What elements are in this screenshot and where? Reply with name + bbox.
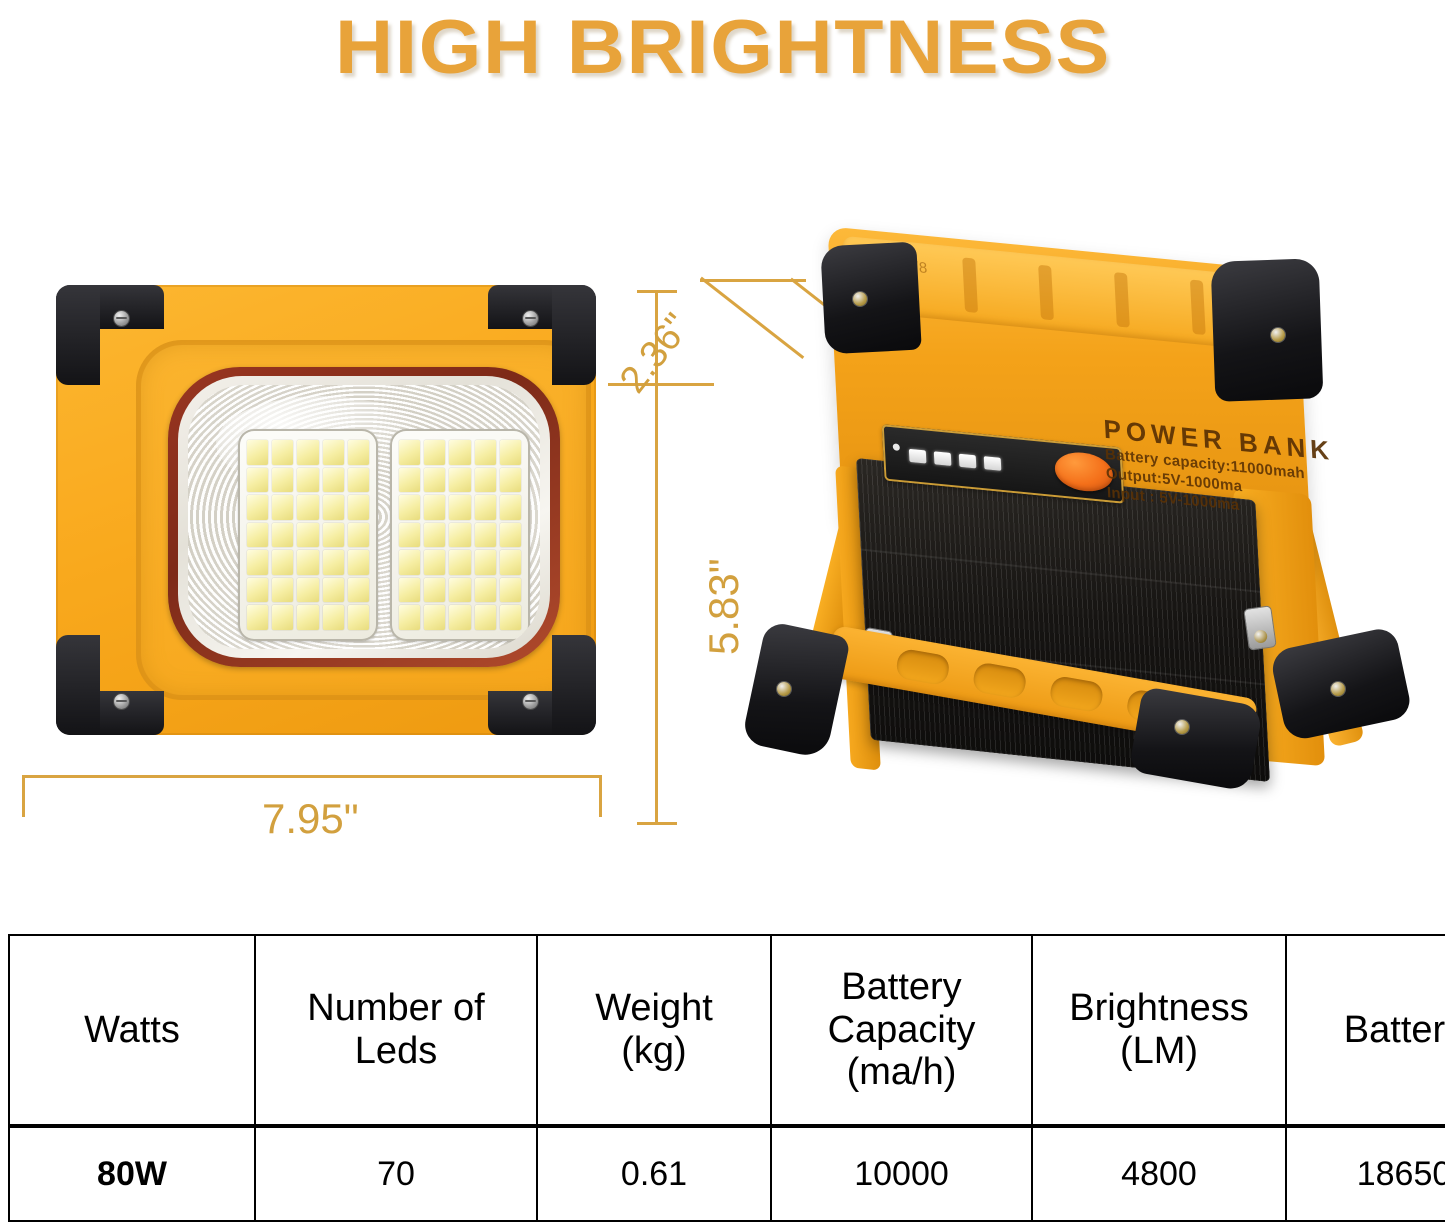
table-header-number-of-leds: Number ofLeds	[255, 935, 537, 1126]
led-chip	[424, 550, 445, 575]
screw-icon	[777, 682, 791, 696]
screw-icon	[853, 292, 867, 306]
screw-icon	[114, 694, 129, 709]
dimension-width-label: 7.95"	[262, 795, 359, 843]
led-chip	[424, 605, 445, 630]
led-chip	[272, 495, 293, 520]
led-chip	[323, 495, 344, 520]
led-chip	[348, 605, 369, 630]
led-chip	[500, 440, 521, 465]
led-chip	[323, 550, 344, 575]
dimension-tick-bottom	[637, 822, 677, 825]
battery-indicator-segment	[909, 448, 927, 463]
led-chip	[399, 440, 420, 465]
housing-rib	[1114, 272, 1130, 328]
stand-hinge-right	[1244, 606, 1275, 649]
screw-icon	[1331, 682, 1345, 696]
page-title-banner: HIGH BRIGHTNESS	[0, 0, 1445, 95]
led-chip	[247, 550, 268, 575]
spec-table: Watts Number ofLeds Weight(kg) BatteryCa…	[8, 934, 1445, 1222]
led-chip	[272, 605, 293, 630]
led-chip	[348, 578, 369, 603]
led-chip	[399, 550, 420, 575]
handle-grip-cutout	[1048, 675, 1104, 714]
led-chip	[475, 605, 496, 630]
table-header-battery-capacity: BatteryCapacity(ma/h)	[771, 935, 1032, 1126]
handle-grip-cutout	[895, 648, 951, 687]
led-chip	[323, 523, 344, 548]
led-chip	[272, 550, 293, 575]
housing-rib	[1038, 265, 1054, 321]
page-title: HIGH BRIGHTNESS	[335, 4, 1111, 91]
led-chip	[399, 523, 420, 548]
screw-icon	[523, 311, 538, 326]
led-chip	[247, 495, 268, 520]
corner-bumper-top-right	[1211, 258, 1324, 402]
table-header-brightness: Brightness(LM)	[1032, 935, 1286, 1126]
screw-icon	[1253, 629, 1268, 644]
bumper-arm-vertical	[552, 285, 596, 385]
table-cell-number-of-leds: 70	[255, 1126, 537, 1221]
led-chip	[449, 468, 470, 493]
screw-icon	[1271, 328, 1285, 342]
battery-indicator-row	[909, 448, 1002, 470]
bumper-arm-vertical	[56, 285, 100, 385]
led-chip	[399, 495, 420, 520]
led-chip	[449, 523, 470, 548]
led-chip	[475, 523, 496, 548]
corner-bumper-bottom-right	[488, 635, 596, 735]
corner-bumper-bottom-left	[56, 635, 164, 735]
corner-bumper-bottom-left	[741, 620, 851, 759]
led-chip	[475, 468, 496, 493]
led-chip	[297, 523, 318, 548]
led-chip	[323, 440, 344, 465]
table-cell-weight: 0.61	[537, 1126, 771, 1221]
bumper-arm-vertical	[56, 635, 100, 735]
led-chip	[449, 605, 470, 630]
led-chip	[424, 440, 445, 465]
battery-indicator-segment	[934, 451, 952, 466]
indicator-dot	[893, 443, 900, 451]
battery-indicator-segment	[984, 456, 1002, 471]
dimension-tick-top	[637, 290, 677, 293]
led-array-group	[238, 429, 530, 641]
led-chip	[247, 440, 268, 465]
lens-bezel-ring	[178, 376, 550, 658]
battery-indicator-segment	[959, 453, 977, 468]
led-chip	[475, 550, 496, 575]
led-chip	[348, 495, 369, 520]
led-chip	[272, 468, 293, 493]
table-header-row: Watts Number ofLeds Weight(kg) BatteryCa…	[9, 935, 1445, 1126]
led-chip	[449, 495, 470, 520]
led-chip	[399, 578, 420, 603]
solar-cell-divider	[861, 548, 1261, 592]
led-chip	[500, 550, 521, 575]
corner-bumper-top-left	[56, 285, 164, 385]
led-chip	[297, 495, 318, 520]
table-cell-watts: 80W	[9, 1126, 255, 1221]
led-chip	[297, 578, 318, 603]
led-chip	[424, 578, 445, 603]
led-chip	[247, 468, 268, 493]
led-chip	[272, 523, 293, 548]
led-panel-right	[390, 429, 530, 641]
table-header-watts: Watts	[9, 935, 255, 1126]
led-chip	[500, 578, 521, 603]
bumper-arm-vertical	[552, 635, 596, 735]
screw-icon	[114, 311, 129, 326]
product-front-view	[18, 275, 628, 745]
table-row: 80W 70 0.61 10000 4800 18650	[9, 1126, 1445, 1221]
screw-icon	[523, 694, 538, 709]
led-chip	[323, 468, 344, 493]
dimension-tick-right	[599, 775, 602, 817]
lens-fresnel-surface	[188, 385, 540, 649]
back-view-stage: 20/8	[735, 230, 1435, 790]
product-image-stage: 5.83" 7.95" 2.36"	[0, 95, 1445, 920]
dimension-tick-left	[22, 775, 25, 817]
led-chip	[247, 523, 268, 548]
light-housing-front	[56, 285, 596, 735]
led-chip	[348, 523, 369, 548]
led-chip	[449, 440, 470, 465]
led-chip	[449, 578, 470, 603]
led-chip	[247, 578, 268, 603]
screw-icon	[1175, 720, 1189, 734]
led-chip	[247, 605, 268, 630]
led-chip	[323, 605, 344, 630]
led-chip	[348, 468, 369, 493]
table-header-battery: Battery	[1286, 935, 1445, 1126]
led-chip	[424, 523, 445, 548]
handle-grip-cutout	[971, 661, 1027, 700]
led-chip	[399, 468, 420, 493]
table-cell-battery-capacity: 10000	[771, 1126, 1032, 1221]
led-chip	[449, 550, 470, 575]
led-chip	[297, 605, 318, 630]
led-chip	[348, 550, 369, 575]
led-chip	[297, 440, 318, 465]
lens-assembly	[168, 367, 560, 667]
table-cell-brightness: 4800	[1032, 1126, 1286, 1221]
corner-bumper-top-right	[488, 285, 596, 385]
led-chip	[424, 468, 445, 493]
led-chip	[297, 468, 318, 493]
housing-rib	[1190, 279, 1206, 335]
led-chip	[424, 495, 445, 520]
led-chip	[500, 605, 521, 630]
led-chip	[500, 523, 521, 548]
led-chip	[500, 495, 521, 520]
dimension-line-horizontal	[22, 775, 602, 778]
led-chip	[475, 495, 496, 520]
led-chip	[272, 578, 293, 603]
table-cell-battery: 18650	[1286, 1126, 1445, 1221]
led-chip	[323, 578, 344, 603]
led-chip	[399, 605, 420, 630]
table-header-weight: Weight(kg)	[537, 935, 771, 1126]
product-back-view: 20/8	[735, 230, 1435, 790]
led-chip	[297, 550, 318, 575]
corner-bumper-top-left	[820, 242, 922, 355]
led-chip	[348, 440, 369, 465]
led-chip	[272, 440, 293, 465]
led-panel-left	[238, 429, 378, 641]
housing-rib	[962, 257, 978, 313]
led-chip	[500, 468, 521, 493]
led-chip	[475, 578, 496, 603]
led-chip	[475, 440, 496, 465]
